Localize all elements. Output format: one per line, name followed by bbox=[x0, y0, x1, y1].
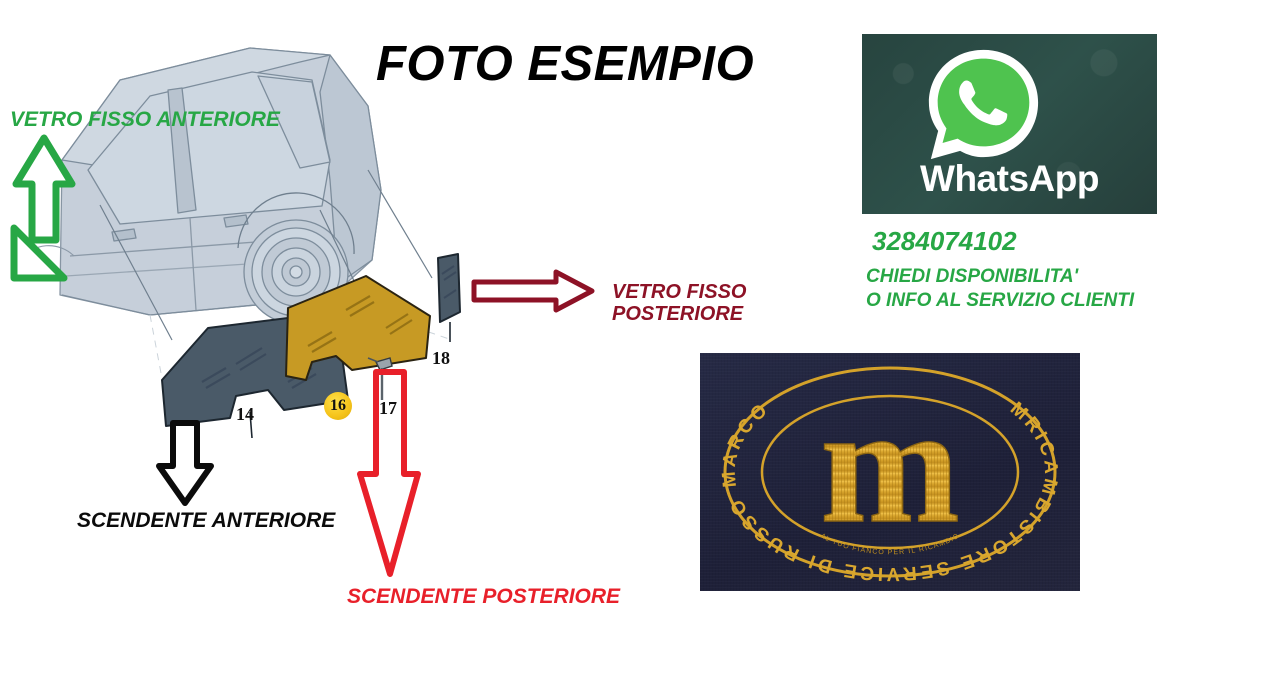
label-vetro-fisso-posteriore-line2: POSTERIORE bbox=[612, 303, 746, 325]
part-16-rear-drop-glass-highlight bbox=[286, 276, 430, 380]
triangle-green-icon bbox=[8, 222, 68, 284]
label-vetro-fisso-anteriore: VETRO FISSO ANTERIORE bbox=[10, 108, 280, 132]
brand-logo-banner: MRICAMBISTORE SERVICE DI RUSSO MARCO m A… bbox=[700, 353, 1080, 591]
contact-message: CHIEDI DISPONIBILITA' O INFO AL SERVIZIO… bbox=[866, 265, 1134, 314]
mricambistore-logo-icon: MRICAMBISTORE SERVICE DI RUSSO MARCO m A… bbox=[700, 353, 1080, 591]
arrow-down-black-icon bbox=[155, 418, 215, 508]
label-scendente-anteriore: SCENDENTE ANTERIORE bbox=[77, 509, 335, 533]
arrow-right-darkred-icon bbox=[470, 270, 596, 312]
part-18-rear-fixed-glass bbox=[438, 254, 460, 342]
contact-message-line2: O INFO AL SERVIZIO CLIENTI bbox=[866, 289, 1134, 313]
contact-phone-number[interactable]: 3284074102 bbox=[872, 226, 1017, 257]
part-number-14: 14 bbox=[236, 404, 254, 425]
page-title: FOTO ESEMPIO bbox=[376, 36, 754, 92]
label-scendente-posteriore: SCENDENTE POSTERIORE bbox=[347, 585, 620, 609]
brand-monogram: m bbox=[820, 372, 960, 558]
whatsapp-banner[interactable]: WhatsApp bbox=[862, 34, 1157, 214]
part-number-18: 18 bbox=[432, 348, 450, 369]
label-vetro-fisso-posteriore: VETRO FISSO POSTERIORE bbox=[612, 281, 746, 326]
part-number-16-badge: 16 bbox=[324, 392, 352, 420]
arrow-down-red-icon bbox=[354, 368, 422, 580]
label-vetro-fisso-posteriore-line1: VETRO FISSO bbox=[612, 281, 746, 303]
whatsapp-icon bbox=[925, 46, 1042, 163]
contact-message-line1: CHIEDI DISPONIBILITA' bbox=[866, 265, 1134, 289]
whatsapp-wordmark: WhatsApp bbox=[862, 158, 1157, 200]
screenshot-root: 14 16 17 18 FOTO ESEMPIO VETRO FISSO ANT… bbox=[0, 0, 1264, 678]
